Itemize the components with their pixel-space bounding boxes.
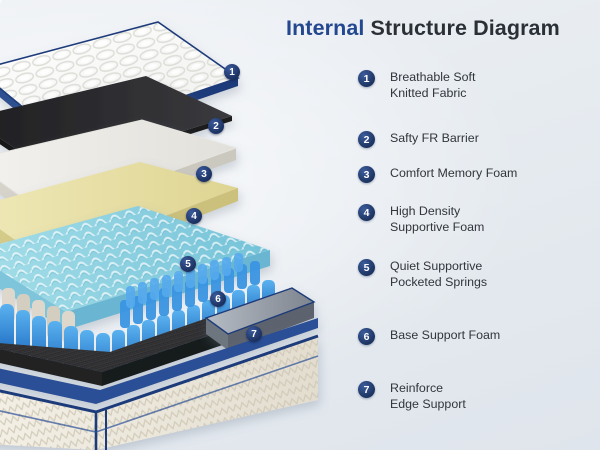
callout-6[interactable]: 6 [210,291,226,307]
legend-item-reinforce-edge-support[interactable]: 7 Reinforce Edge Support [358,381,466,412]
legend-item-quiet-supportive-pocketed-springs[interactable]: 5 Quiet Supportive Pocketed Springs [358,259,487,290]
legend-label-2: Safty FR Barrier [390,131,479,147]
page-title-rest: Structure Diagram [364,16,559,40]
callout-7[interactable]: 7 [246,326,262,342]
legend-label-6: Base Support Foam [390,328,500,344]
legend-item-safty-fr-barrier[interactable]: 2 Safty FR Barrier [358,131,479,148]
legend-badge-6: 6 [358,328,375,345]
callout-5[interactable]: 5 [180,256,196,272]
legend-item-base-support-foam[interactable]: 6 Base Support Foam [358,328,500,345]
legend-label-5: Quiet Supportive Pocketed Springs [390,259,487,290]
diagram-canvas: 1 2 3 4 5 6 7 Internal Structure Diagram… [0,0,600,450]
page-title-accent: Internal [286,16,364,40]
page-title: Internal Structure Diagram [286,16,586,41]
legend-badge-2: 2 [358,131,375,148]
legend-label-3: Comfort Memory Foam [390,166,517,182]
mattress-layers-svg [0,0,330,450]
legend-badge-3: 3 [358,166,375,183]
callout-2[interactable]: 2 [208,118,224,134]
callout-3[interactable]: 3 [196,166,212,182]
callout-4[interactable]: 4 [186,208,202,224]
legend-badge-7: 7 [358,381,375,398]
callout-1[interactable]: 1 [224,64,240,80]
mattress-exploded-illustration: 1 2 3 4 5 6 7 [0,0,330,450]
legend-badge-5: 5 [358,259,375,276]
legend-item-comfort-memory-foam[interactable]: 3 Comfort Memory Foam [358,166,517,183]
legend-label-1: Breathable Soft Knitted Fabric [390,70,475,101]
legend-item-breathable-soft-knitted-fabric[interactable]: 1 Breathable Soft Knitted Fabric [358,70,475,101]
legend-item-high-density-supportive-foam[interactable]: 4 High Density Supportive Foam [358,204,484,235]
legend-badge-4: 4 [358,204,375,221]
legend-badge-1: 1 [358,70,375,87]
legend-label-7: Reinforce Edge Support [390,381,466,412]
legend-label-4: High Density Supportive Foam [390,204,484,235]
